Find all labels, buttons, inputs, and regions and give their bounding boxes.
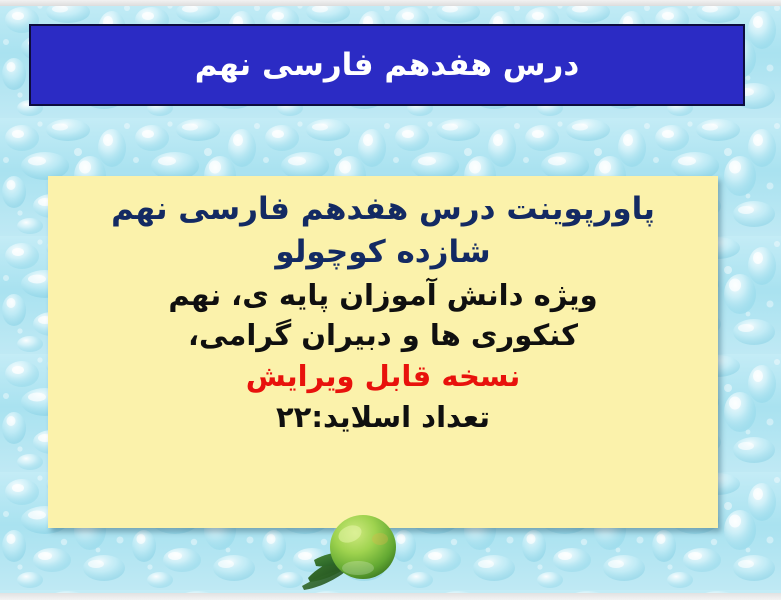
slide-title: درس هفدهم فارسی نهم [195, 48, 579, 82]
presentation-slide: درس هفدهم فارسی نهم پاورپوینت درس هفدهم … [0, 0, 781, 600]
content-card: پاورپوینت درس هفدهم فارسی نهم شازده کوچو… [48, 176, 718, 528]
content-line-editable-badge: نسخه قابل ویرایش [66, 360, 700, 392]
top-edge-strip [0, 0, 781, 6]
content-line-slide-count: تعداد اسلاید:۲۲ [66, 401, 700, 433]
content-line-title: پاورپوینت درس هفدهم فارسی نهم [66, 192, 700, 227]
bottom-edge-strip [0, 593, 781, 600]
content-line-subtitle: شازده کوچولو [66, 235, 700, 270]
green-apple-icon [300, 512, 412, 590]
title-banner: درس هفدهم فارسی نهم [29, 24, 745, 106]
content-line-audience-1: ویژه دانش آموزان پایه ی، نهم [66, 279, 700, 311]
content-line-audience-2: کنکوری ها و دبیران گرامی، [66, 319, 700, 351]
